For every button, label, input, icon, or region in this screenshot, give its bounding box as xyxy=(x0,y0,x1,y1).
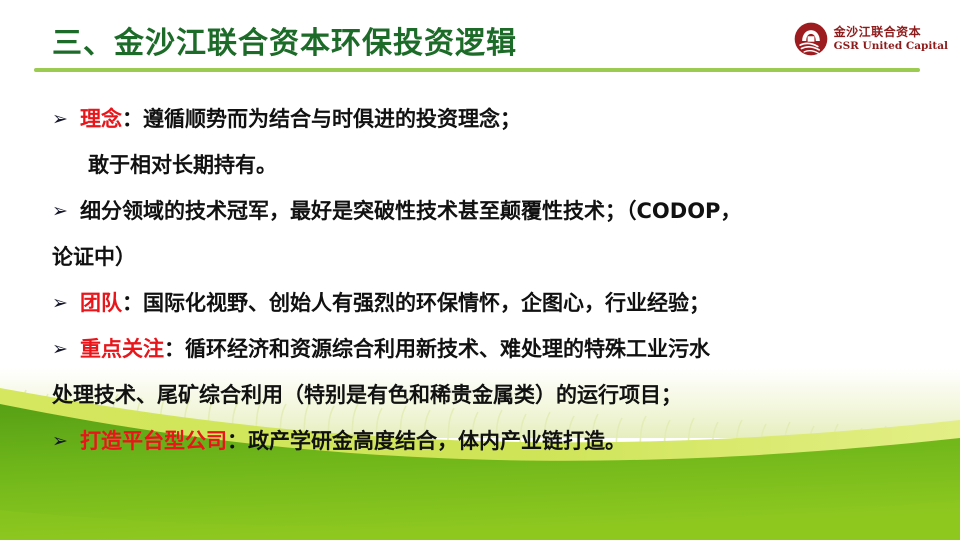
bullet-continuation: 论证中） xyxy=(52,234,932,280)
list-item: ➢ 细分领域的技术冠军，最好是突破性技术甚至颠覆性技术；（CODOP， xyxy=(52,188,932,234)
bullet-lead-label: 重点关注 xyxy=(80,337,164,361)
company-logo: 金沙江联合资本 GSR United Capital xyxy=(794,22,948,56)
list-item: ➢ 团队：国际化视野、创始人有强烈的环保情怀，企图心，行业经验； xyxy=(52,280,932,326)
bullet-continuation: 敢于相对长期持有。 xyxy=(52,142,932,188)
list-item: ➢ 理念：遵循顺势而为结合与时俱进的投资理念； xyxy=(52,96,932,142)
title-divider xyxy=(34,68,920,72)
bullet-lead-label: 打造平台型公司 xyxy=(80,429,227,453)
bullet-text: 打造平台型公司：政产学研金高度结合，体内产业链打造。 xyxy=(80,418,932,464)
bullet-continuation: 处理技术、尾矿综合利用（特别是有色和稀贵金属类）的运行项目； xyxy=(52,372,932,418)
bullet-rest-text: 细分领域的技术冠军，最好是突破性技术甚至颠覆性技术；（CODOP， xyxy=(80,199,741,223)
bullet-rest-text: ：政产学研金高度结合，体内产业链打造。 xyxy=(227,429,626,453)
bullet-lead-label: 团队 xyxy=(80,291,122,315)
arrow-bullet-icon: ➢ xyxy=(52,326,80,372)
bullet-rest-text: ：循环经济和资源综合利用新技术、难处理的特殊工业污水 xyxy=(164,337,710,361)
list-item: ➢ 打造平台型公司：政产学研金高度结合，体内产业链打造。 xyxy=(52,418,932,464)
arrow-bullet-icon: ➢ xyxy=(52,418,80,464)
page-title: 三、金沙江联合资本环保投资逻辑 xyxy=(52,18,517,62)
logo-text-block: 金沙江联合资本 GSR United Capital xyxy=(834,26,948,52)
bullet-text: 理念：遵循顺势而为结合与时俱进的投资理念； xyxy=(80,96,932,142)
bullet-rest-text: ：遵循顺势而为结合与时俱进的投资理念； xyxy=(122,107,521,131)
arrow-bullet-icon: ➢ xyxy=(52,280,80,326)
bullet-text: 重点关注：循环经济和资源综合利用新技术、难处理的特殊工业污水 xyxy=(80,326,932,372)
wave-sheen xyxy=(0,500,960,540)
list-item: ➢ 重点关注：循环经济和资源综合利用新技术、难处理的特殊工业污水 xyxy=(52,326,932,372)
arrow-bullet-icon: ➢ xyxy=(52,188,80,234)
gsr-circular-emblem-icon xyxy=(794,22,828,56)
bullet-list: ➢ 理念：遵循顺势而为结合与时俱进的投资理念； 敢于相对长期持有。 ➢ 细分领域… xyxy=(52,96,932,464)
bullet-rest-text: ：国际化视野、创始人有强烈的环保情怀，企图心，行业经验； xyxy=(122,291,710,315)
bullet-lead-label: 理念 xyxy=(80,107,122,131)
slide-canvas: 三、金沙江联合资本环保投资逻辑 金沙江联合资本 GSR United Capit… xyxy=(0,0,960,540)
logo-english-name: GSR United Capital xyxy=(834,40,948,52)
arrow-bullet-icon: ➢ xyxy=(52,96,80,142)
bullet-text: 团队：国际化视野、创始人有强烈的环保情怀，企图心，行业经验； xyxy=(80,280,932,326)
logo-chinese-name: 金沙江联合资本 xyxy=(834,26,948,40)
bullet-text: 细分领域的技术冠军，最好是突破性技术甚至颠覆性技术；（CODOP， xyxy=(80,188,932,234)
